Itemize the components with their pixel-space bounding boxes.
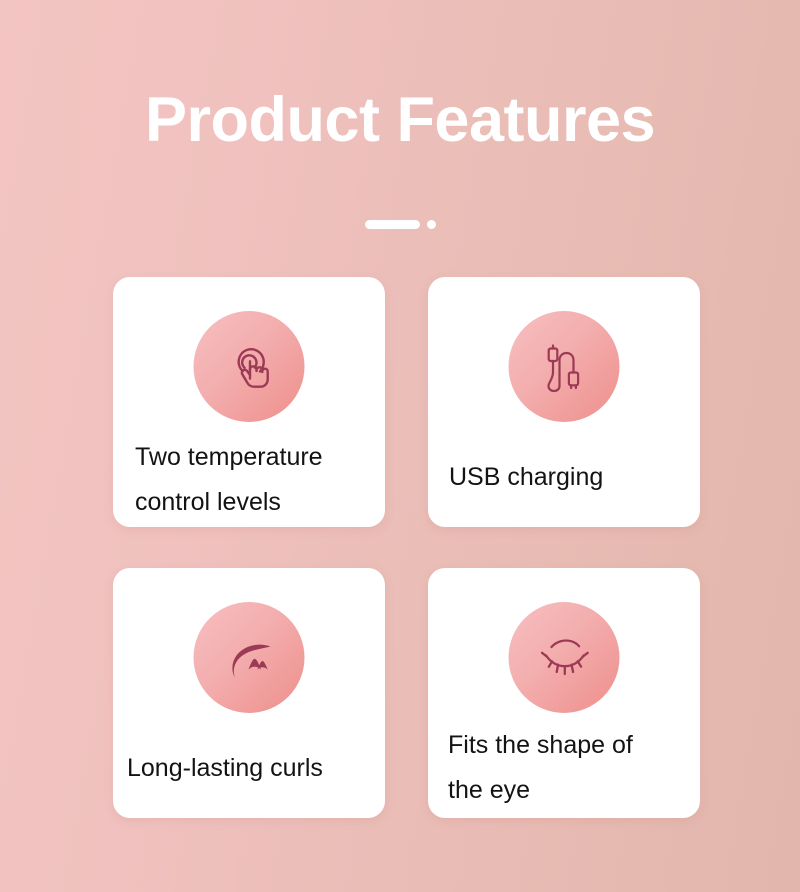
eyelash-curl-icon [219, 628, 279, 688]
usb-cable-icon [535, 338, 593, 396]
feature-icon-circle [194, 311, 305, 422]
feature-icon-circle [509, 311, 620, 422]
feature-icon-circle [194, 602, 305, 713]
page-title: Product Features [0, 78, 800, 162]
closed-eye-icon [533, 630, 595, 686]
feature-label: USB charging [449, 455, 717, 500]
product-features-page: Product Features Two temperatu [0, 0, 800, 892]
feature-card-usb-charging[interactable]: USB charging [428, 277, 700, 527]
feature-card-fits-the-shape-of-the-eye[interactable]: Fits the shape of the eye [428, 568, 700, 818]
feature-label: Long-lasting curls [127, 746, 395, 791]
divider-dot-icon [427, 220, 436, 229]
feature-icon-circle [509, 602, 620, 713]
divider-bar-icon [365, 220, 420, 229]
feature-card-long-lasting-curls[interactable]: Long-lasting curls [113, 568, 385, 818]
touch-hand-icon [219, 337, 279, 397]
feature-label: Two temperature control levels [135, 435, 403, 525]
feature-card-grid: Two temperature control levels [113, 277, 700, 818]
title-divider [0, 219, 800, 229]
feature-label: Fits the shape of the eye [448, 723, 716, 813]
feature-card-two-temperature-control-levels[interactable]: Two temperature control levels [113, 277, 385, 527]
